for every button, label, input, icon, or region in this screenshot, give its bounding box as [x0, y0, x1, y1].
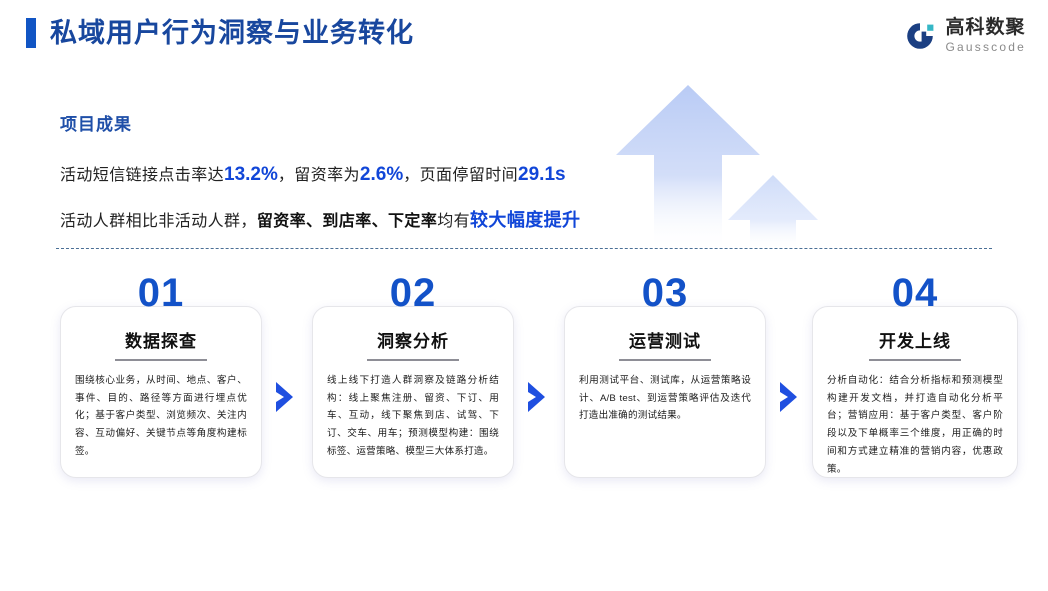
step-rule-2	[367, 359, 459, 361]
step-number-2: 02	[313, 273, 513, 313]
step-number-4: 04	[813, 273, 1017, 313]
logo-text-block: 高科数聚 Gausscode	[945, 18, 1026, 53]
step-number-1: 01	[61, 273, 261, 313]
results-l2-bold-metrics: 留资率、到店率、下定率	[257, 213, 437, 230]
results-metric-dwelltime: 29.1s	[518, 164, 566, 185]
step-title-2: 洞察分析	[327, 333, 499, 350]
step-card-1[interactable]: 01 数据探查 围绕核心业务，从时间、地点、客户、事件、目的、路径等方面进行埋点…	[60, 306, 262, 478]
results-l2-highlight: 较大幅度提升	[470, 210, 580, 230]
step-body-3: 利用测试平台、测试库，从运营策略设计、A/B test、到运营策略评估及迭代打造…	[579, 372, 751, 425]
logo-name-cn: 高科数聚	[945, 18, 1026, 37]
step-body-2: 线上线下打造人群洞察及链路分析结构：线上聚焦注册、留资、下订、用车、互动，线下聚…	[327, 372, 499, 461]
results-l1-text2: ，留资率为	[278, 167, 360, 184]
step-card-2[interactable]: 02 洞察分析 线上线下打造人群洞察及链路分析结构：线上聚焦注册、留资、下订、用…	[312, 306, 514, 478]
step-body-4: 分析自动化：结合分析指标和预测模型构建开发文档，并打造自动化分析平台；营销应用：…	[827, 372, 1003, 478]
results-metric-leadrate: 2.6%	[360, 164, 403, 185]
gausscode-logo-icon	[904, 20, 936, 52]
step-title-3: 运营测试	[579, 333, 751, 350]
results-l2-text2: 均有	[437, 213, 470, 230]
results-l1-text1: 活动短信链接点击率达	[60, 167, 224, 184]
logo-name-en: Gausscode	[945, 41, 1026, 53]
step-rule-1	[115, 359, 207, 361]
brand-logo: 高科数聚 Gausscode	[904, 18, 1026, 53]
title-block: 私域用户行为洞察与业务转化	[26, 18, 414, 48]
step-chevron-icon-2	[524, 380, 550, 414]
step-chevron-icon-3	[776, 380, 802, 414]
title-accent-bar	[26, 18, 36, 48]
step-title-1: 数据探查	[75, 333, 247, 350]
step-chevron-icon-1	[272, 380, 298, 414]
step-title-4: 开发上线	[827, 333, 1003, 350]
step-card-3[interactable]: 03 运营测试 利用测试平台、测试库，从运营策略设计、A/B test、到运营策…	[564, 306, 766, 478]
step-body-1: 围绕核心业务，从时间、地点、客户、事件、目的、路径等方面进行埋点优化；基于客户类…	[75, 372, 247, 461]
step-number-3: 03	[565, 273, 765, 313]
step-rule-3	[619, 359, 711, 361]
results-line-1: 活动短信链接点击率达13.2%，留资率为2.6%，页面停留时间29.1s	[60, 161, 760, 186]
results-heading: 项目成果	[60, 110, 760, 135]
step-card-4[interactable]: 04 开发上线 分析自动化：结合分析指标和预测模型构建开发文档，并打造自动化分析…	[812, 306, 1018, 478]
project-results-section: 项目成果 活动短信链接点击率达13.2%，留资率为2.6%，页面停留时间29.1…	[60, 110, 760, 252]
section-divider	[56, 248, 992, 249]
results-l1-text3: ，页面停留时间	[403, 167, 518, 184]
page-header: 私域用户行为洞察与业务转化 高科数聚 Gausscode	[0, 0, 1048, 80]
step-rule-4	[869, 359, 961, 361]
results-line-2: 活动人群相比非活动人群，留资率、到店率、下定率均有较大幅度提升	[60, 206, 760, 232]
page-title: 私域用户行为洞察与业务转化	[50, 20, 414, 47]
results-l2-text1: 活动人群相比非活动人群，	[60, 213, 257, 230]
results-metric-ctr: 13.2%	[224, 164, 278, 185]
process-steps: 01 数据探查 围绕核心业务，从时间、地点、客户、事件、目的、路径等方面进行埋点…	[0, 272, 1048, 522]
